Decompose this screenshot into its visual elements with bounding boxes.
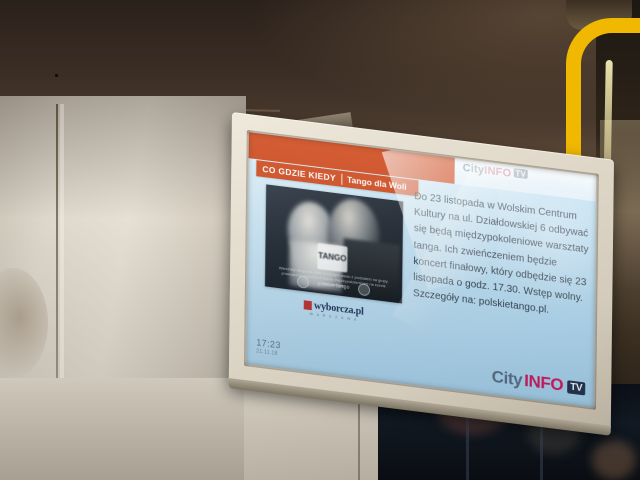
photo-scene: CityINFOTV CO GDZIE KIEDY Tango dla Woli… — [0, 0, 640, 480]
passenger-info-display[interactable]: CityINFOTV CO GDZIE KIEDY Tango dla Woli… — [229, 112, 614, 446]
ceiling-fixture-dot — [55, 74, 58, 77]
bezel-inner-shadow — [244, 130, 599, 410]
window-reflection — [592, 440, 636, 480]
lower-wall-panel — [0, 378, 250, 480]
